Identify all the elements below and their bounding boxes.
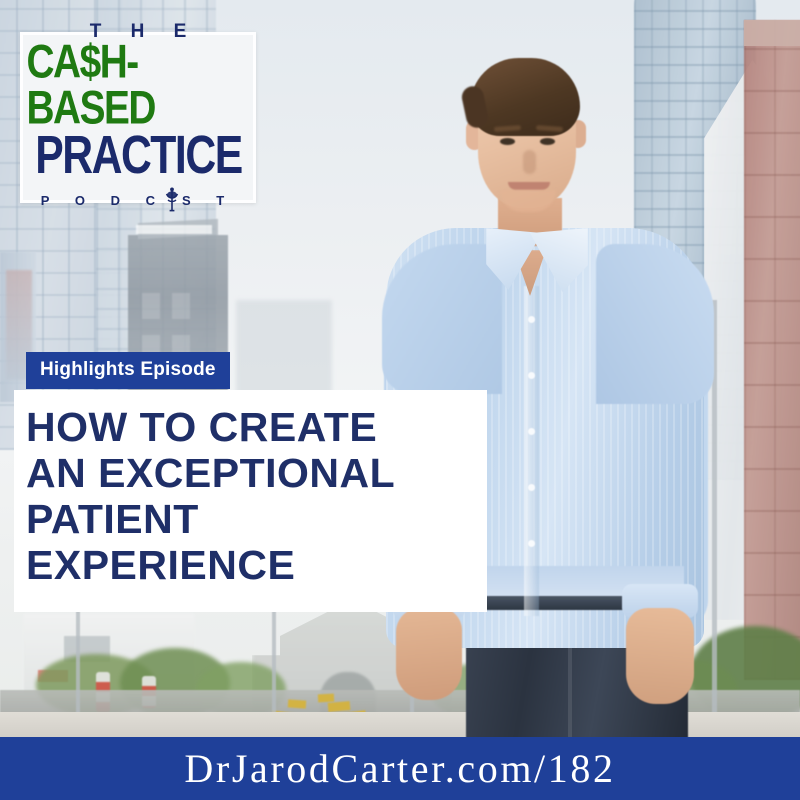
episode-title-line-3: PATIENT [26, 496, 469, 542]
shirt-button [528, 372, 535, 379]
logo-podcast-after: S T [182, 193, 235, 208]
episode-title-line-1: HOW TO CREATE [26, 404, 469, 450]
episode-title-line-2: AN EXCEPTIONAL [26, 450, 469, 496]
logo-line-cash-based: CA$H-BASED [26, 40, 249, 132]
subject-hand-left [396, 608, 462, 700]
subject-eye-right [540, 138, 555, 145]
shirt-button [528, 428, 535, 435]
episode-cover-canvas: T H E CA$H-BASED PRACTICE P O D C S T Hi… [0, 0, 800, 800]
logo-line-practice: PRACTICE [35, 129, 242, 182]
subject-hand-right [626, 608, 694, 704]
footer-url-text[interactable]: DrJarodCarter.com/182 [184, 745, 615, 792]
subject-shirt-placket [524, 286, 539, 616]
shirt-button [528, 540, 535, 547]
caduceus-icon [164, 187, 180, 213]
logo-line-podcast: P O D C S T [41, 187, 235, 213]
footer-url-banner: DrJarodCarter.com/182 [0, 737, 800, 800]
subject-nose [523, 150, 536, 174]
shirt-button [528, 484, 535, 491]
subject-eye-left [500, 138, 515, 145]
subject-hair [470, 58, 580, 136]
episode-title-card: HOW TO CREATE AN EXCEPTIONAL PATIENT EXP… [14, 390, 487, 612]
logo-podcast-before: P O D C [41, 193, 166, 208]
highlights-episode-badge: Highlights Episode [26, 352, 230, 389]
episode-title-line-4: EXPERIENCE [26, 542, 469, 588]
subject-right-shoulder [596, 244, 714, 404]
shirt-button [528, 316, 535, 323]
podcast-logo-card: T H E CA$H-BASED PRACTICE P O D C S T [20, 32, 256, 203]
subject-mouth [508, 182, 550, 190]
